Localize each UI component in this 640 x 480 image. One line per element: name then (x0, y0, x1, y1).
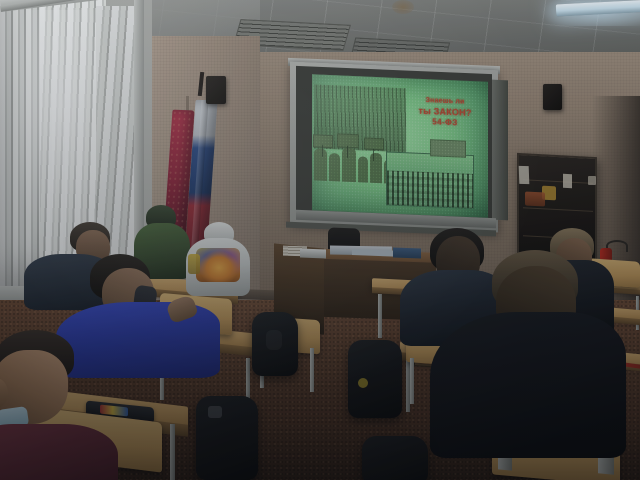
ceiling-stain (392, 0, 414, 14)
maroon-sweater-body (0, 424, 118, 480)
wall-speaker-right (543, 84, 562, 110)
backpack-right[interactable] (196, 396, 258, 480)
desk-device (300, 249, 326, 259)
projection-screen: Знаешь ли ты ЗАКОН? 54-ФЗ (312, 74, 488, 217)
wall-speaker-left (206, 76, 226, 104)
cabinet-paper-notice (519, 166, 530, 184)
whiteboard-edge (492, 80, 508, 221)
backpack-buckle (208, 406, 222, 418)
desk-leg (378, 294, 382, 338)
black-hoodie-body (430, 312, 626, 458)
desk-leg (170, 424, 175, 480)
backpack-tag (358, 378, 368, 388)
projection-noise (312, 74, 488, 217)
wall-outlet (588, 176, 596, 185)
chair-leg (310, 348, 314, 392)
cabinet-paper-notice-secondary (563, 174, 572, 188)
backpack-foreground[interactable] (362, 436, 428, 480)
backpack-center[interactable] (348, 340, 402, 418)
classroom-photo: Знаешь ли ты ЗАКОН? 54-ФЗ (0, 0, 640, 480)
student-foreground-left (0, 330, 128, 480)
student-right-dark (430, 250, 630, 460)
cabinet-item-red (525, 191, 545, 206)
chair-leg (410, 358, 414, 404)
backpack-pocket (266, 330, 282, 350)
